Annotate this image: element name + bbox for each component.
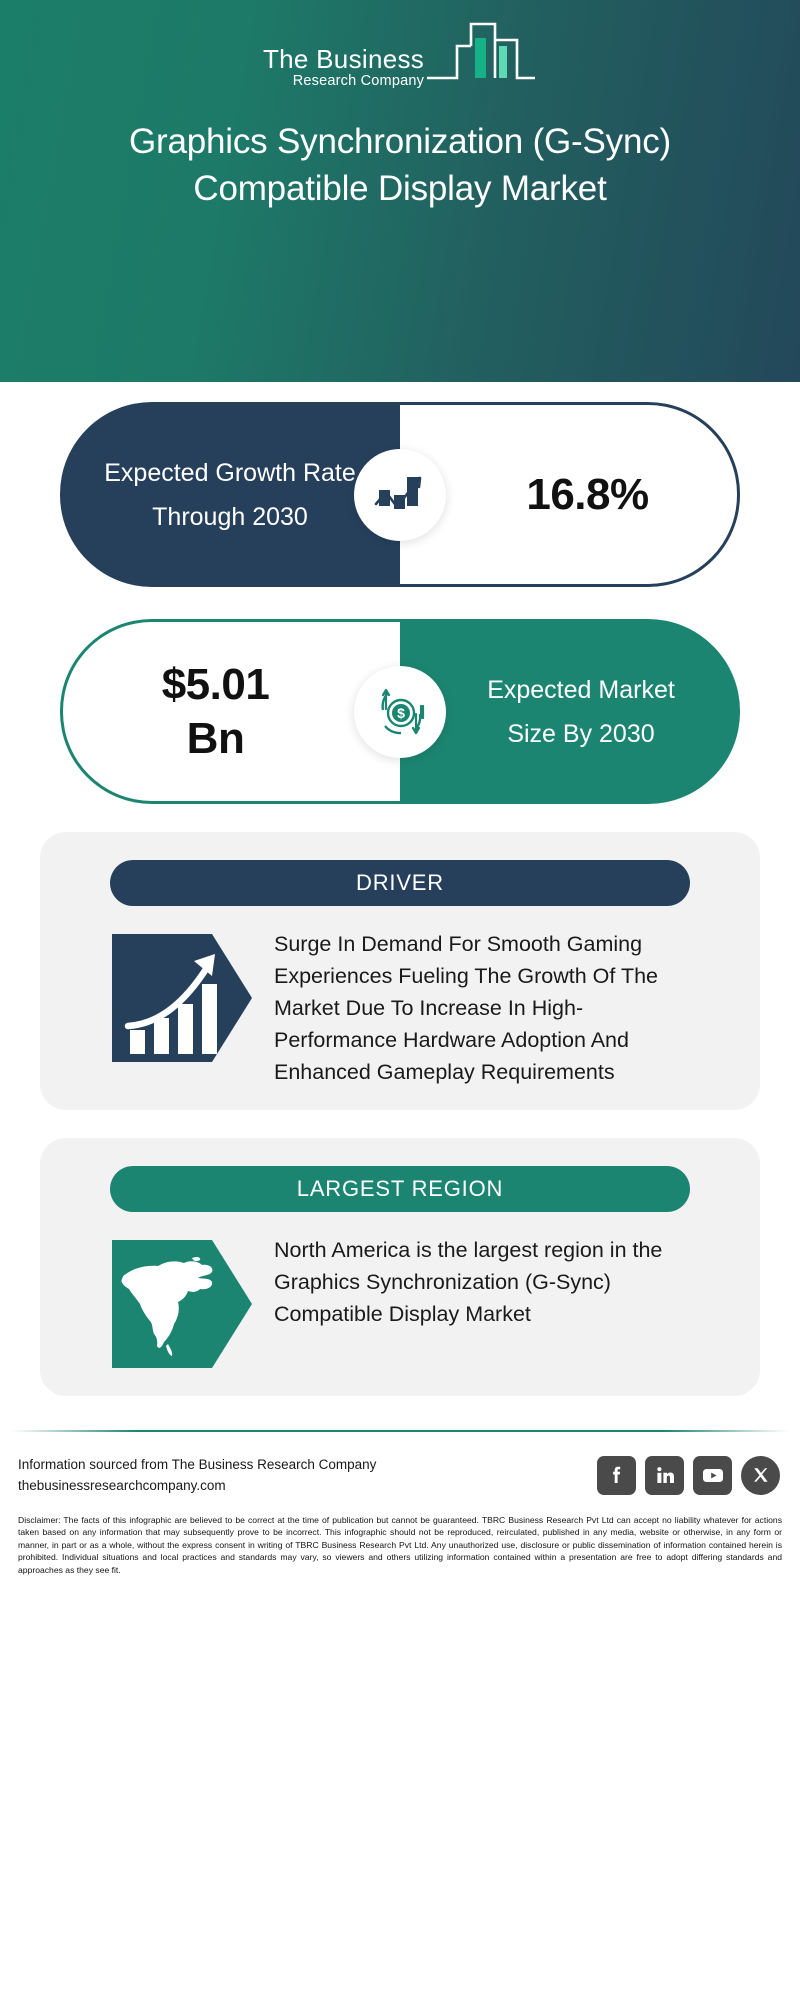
footer-row: Information sourced from The Business Re…: [0, 1432, 800, 1496]
stat-pill-growth-rate: Expected Growth Rate Through 2030 16.8%: [60, 402, 740, 587]
linkedin-icon[interactable]: [645, 1456, 684, 1495]
svg-text:$: $: [397, 705, 405, 721]
footer-source-line-1: Information sourced from The Business Re…: [18, 1454, 376, 1475]
logo-wordmark: The Business Research Company: [263, 46, 424, 93]
north-america-map-icon: [112, 1234, 252, 1374]
stat-band: Expected Growth Rate Through 2030 16.8% …: [0, 402, 800, 804]
x-twitter-icon[interactable]: [741, 1456, 780, 1495]
logo-line-2: Research Company: [293, 74, 424, 89]
stat-value-panel: $5.01 Bn: [60, 619, 400, 804]
footer: Information sourced from The Business Re…: [0, 1396, 800, 1576]
largest-region-card: LARGEST REGION North America is the larg…: [40, 1138, 760, 1396]
stat-value-panel: 16.8%: [400, 402, 740, 587]
social-links: [597, 1456, 780, 1495]
spacer: [0, 804, 800, 832]
driver-body: Surge In Demand For Smooth Gaming Experi…: [40, 906, 760, 1088]
region-body: North America is the largest region in t…: [40, 1212, 760, 1374]
stat-value-growth-rate: 16.8%: [488, 470, 648, 520]
footer-website-link[interactable]: thebusinessresearchcompany.com: [18, 1475, 376, 1496]
dollar-cycle-icon: $: [354, 666, 446, 758]
stat-value-market-size: $5.01 Bn: [132, 658, 332, 766]
region-ribbon-label: LARGEST REGION: [297, 1176, 503, 1202]
growth-bar-arrow-icon: [112, 928, 252, 1068]
stat-label-market-size: Expected Market Size By 2030: [445, 668, 695, 756]
disclaimer-text: Disclaimer: The facts of this infographi…: [0, 1496, 800, 1576]
bar-chart-growth-icon: [354, 449, 446, 541]
driver-ribbon-label: DRIVER: [356, 870, 444, 896]
footer-source: Information sourced from The Business Re…: [18, 1454, 376, 1496]
logo-bar-chart-icon: [425, 16, 537, 91]
driver-text: Surge In Demand For Smooth Gaming Experi…: [274, 928, 706, 1088]
header-banner: The Business Research Company Graphics S…: [0, 0, 800, 382]
stat-label-growth-rate: Expected Growth Rate Through 2030: [95, 451, 365, 539]
region-text: North America is the largest region in t…: [274, 1234, 706, 1330]
region-ribbon: LARGEST REGION: [110, 1166, 690, 1212]
spacer: [0, 1110, 800, 1138]
company-logo: The Business Research Company: [263, 22, 537, 92]
youtube-icon[interactable]: [693, 1456, 732, 1495]
facebook-icon[interactable]: [597, 1456, 636, 1495]
logo-line-1: The Business: [263, 46, 424, 72]
stat-label-panel: Expected Growth Rate Through 2030: [60, 402, 400, 587]
stat-label-panel: Expected Market Size By 2030: [400, 619, 740, 804]
page-title: Graphics Synchronization (G-Sync) Compat…: [80, 118, 720, 212]
driver-ribbon: DRIVER: [110, 860, 690, 906]
driver-card: DRIVER Surge In Demand For Smooth Gaming…: [40, 832, 760, 1110]
infographic-page: The Business Research Company Graphics S…: [0, 0, 800, 2000]
stat-pill-market-size: $5.01 Bn Expected Market Size By 2030 $: [60, 619, 740, 804]
